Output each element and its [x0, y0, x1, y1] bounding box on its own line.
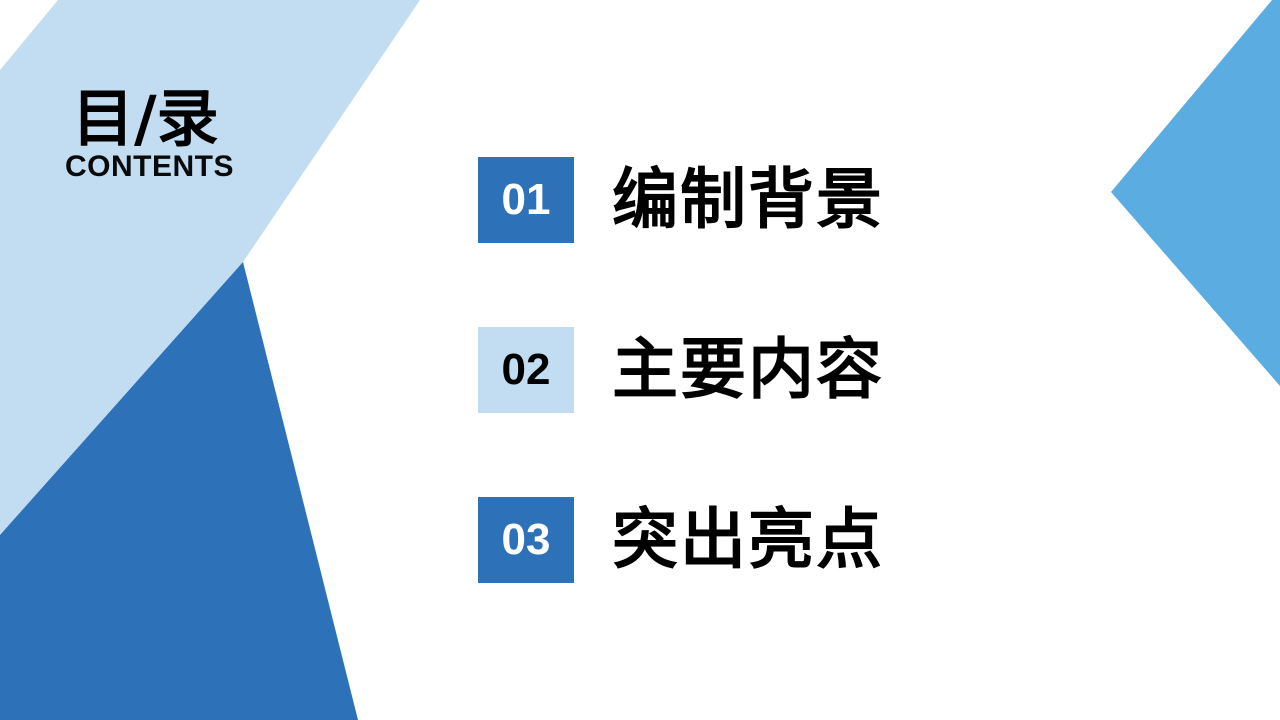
page-title: 目/录 CONTENTS — [60, 88, 320, 182]
item-label-02: 主要内容 — [612, 337, 884, 403]
item-number-01: 01 — [502, 178, 551, 222]
title-english: CONTENTS — [65, 152, 320, 182]
item-number-badge-02[interactable]: 02 — [478, 327, 574, 413]
slide-canvas: 目/录 CONTENTS 01 编制背景 02 主要内容 03 突出亮点 — [0, 0, 1280, 720]
item-number-badge-01[interactable]: 01 — [478, 157, 574, 243]
contents-item-01[interactable]: 01 编制背景 — [478, 157, 1178, 243]
item-number-03: 03 — [502, 518, 551, 562]
title-chinese: 目/录 — [72, 88, 320, 150]
item-number-02: 02 — [502, 348, 551, 392]
contents-item-03[interactable]: 03 突出亮点 — [478, 497, 1178, 583]
item-label-03: 突出亮点 — [612, 507, 884, 573]
contents-item-02[interactable]: 02 主要内容 — [478, 327, 1178, 413]
item-label-01: 编制背景 — [612, 167, 884, 233]
contents-list: 01 编制背景 02 主要内容 03 突出亮点 — [478, 157, 1178, 583]
item-number-badge-03[interactable]: 03 — [478, 497, 574, 583]
